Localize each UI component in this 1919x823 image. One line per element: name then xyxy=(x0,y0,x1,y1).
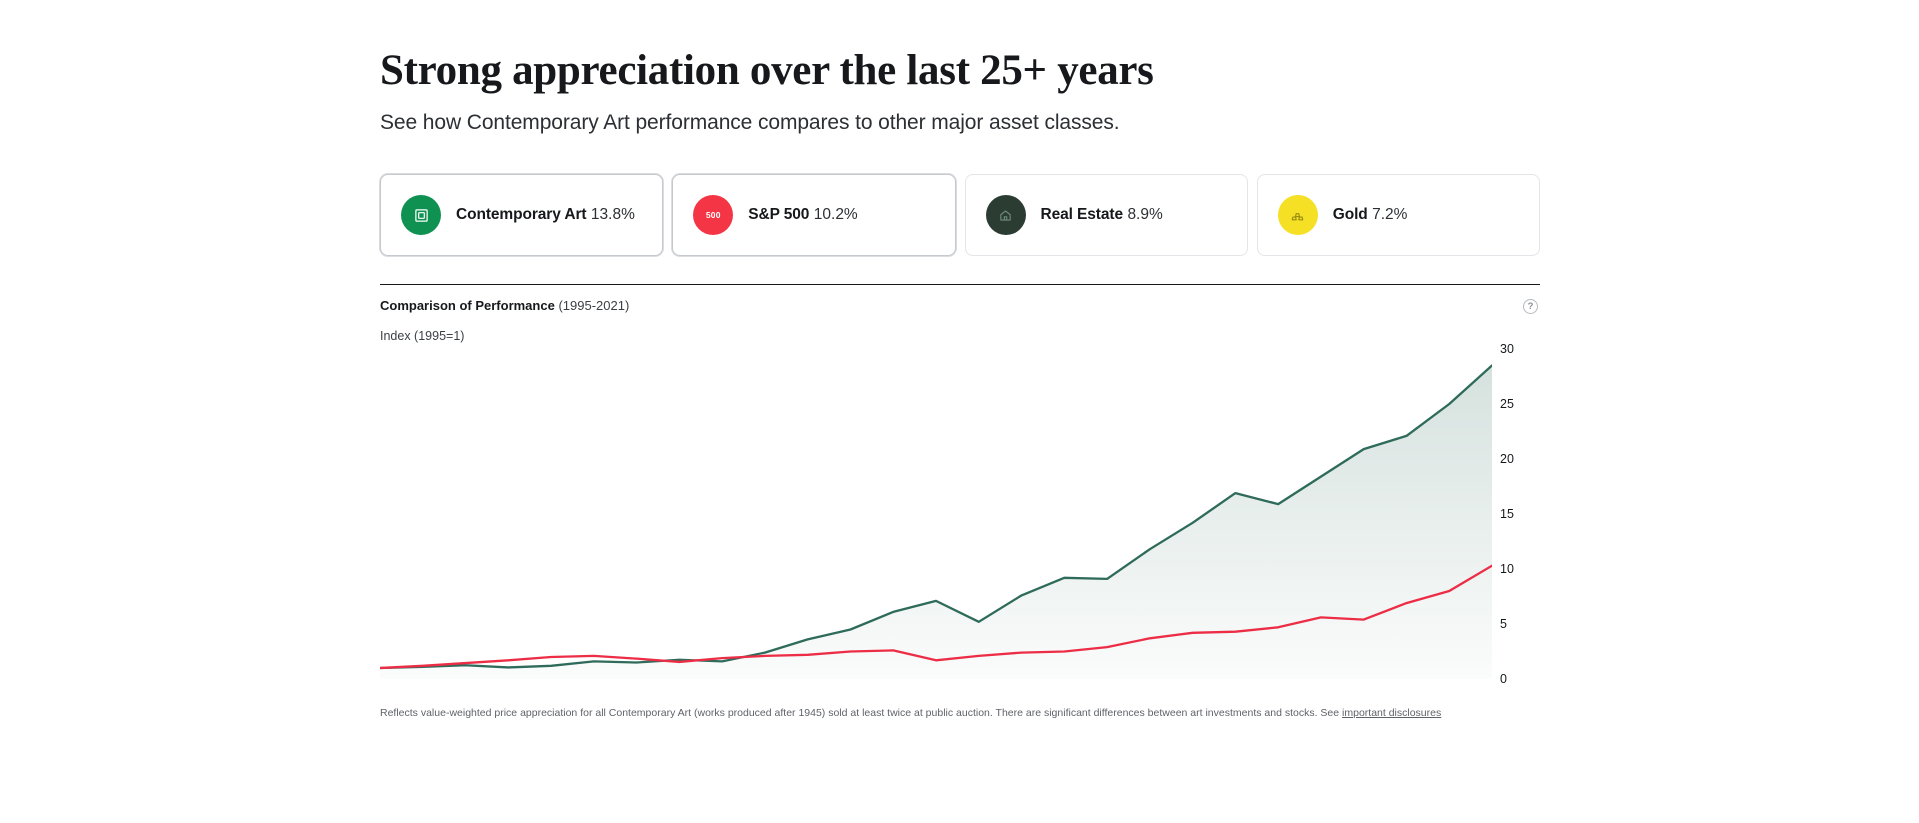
asset-card-name: S&P 500 xyxy=(748,206,809,223)
asset-card-value: 7.2% xyxy=(1372,206,1407,223)
chart-title: Comparison of Performance (1995-2021) xyxy=(380,298,629,315)
important-disclosures-link[interactable]: important disclosures xyxy=(1342,707,1441,719)
chart-title-range: (1995-2021) xyxy=(558,298,629,313)
y-axis-tick: 30 xyxy=(1500,343,1514,356)
gold-bars-icon xyxy=(1278,195,1318,235)
asset-card-gold[interactable]: Gold 7.2% xyxy=(1257,174,1540,256)
asset-card-name: Contemporary Art xyxy=(456,206,586,223)
content-column: Strong appreciation over the last 25+ ye… xyxy=(380,0,1540,722)
y-axis-tick: 15 xyxy=(1500,508,1514,521)
page-subtitle: See how Contemporary Art performance com… xyxy=(380,109,1540,137)
chart-plot: 051015202530 xyxy=(380,349,1540,679)
chart-svg xyxy=(380,349,1492,679)
plot-area xyxy=(380,349,1492,679)
chart-panel: Comparison of Performance (1995-2021) ? … xyxy=(380,284,1540,721)
asset-card-text: Real Estate 8.9% xyxy=(1041,205,1163,225)
area-contemporary-art xyxy=(380,366,1492,680)
y-axis-tick: 0 xyxy=(1500,673,1507,686)
asset-card-text: Contemporary Art 13.8% xyxy=(456,205,635,225)
asset-card-real-estate[interactable]: Real Estate 8.9% xyxy=(965,174,1248,256)
y-axis: 051015202530 xyxy=(1496,349,1540,679)
y-axis-tick: 5 xyxy=(1500,618,1507,631)
page-root: Strong appreciation over the last 25+ ye… xyxy=(0,0,1919,823)
asset-card-text: S&P 500 10.2% xyxy=(748,205,857,225)
help-circle-icon[interactable]: ? xyxy=(1523,299,1538,314)
chart-footnote: Reflects value-weighted price appreciati… xyxy=(380,705,1515,721)
asset-card-value: 10.2% xyxy=(814,206,858,223)
y-axis-caption: Index (1995=1) xyxy=(380,329,1540,343)
chart-header: Comparison of Performance (1995-2021) ? xyxy=(380,298,1540,315)
y-axis-tick: 20 xyxy=(1500,453,1514,466)
page-title: Strong appreciation over the last 25+ ye… xyxy=(380,0,1540,95)
framed-artwork-icon xyxy=(401,195,441,235)
y-axis-tick: 25 xyxy=(1500,398,1514,411)
y-axis-tick: 10 xyxy=(1500,563,1514,576)
asset-card-name: Gold xyxy=(1333,206,1368,223)
asset-card-value: 8.9% xyxy=(1127,206,1162,223)
sp500-badge-label: 500 xyxy=(706,211,721,220)
chart-title-main: Comparison of Performance xyxy=(380,298,555,313)
asset-card-contemporary-art[interactable]: Contemporary Art 13.8% xyxy=(380,174,663,256)
asset-card-value: 13.8% xyxy=(591,206,635,223)
footnote-text: Reflects value-weighted price appreciati… xyxy=(380,707,1342,719)
house-icon xyxy=(986,195,1026,235)
asset-card-sp500[interactable]: 500 S&P 500 10.2% xyxy=(672,174,955,256)
asset-card-name: Real Estate xyxy=(1041,206,1123,223)
asset-card-text: Gold 7.2% xyxy=(1333,205,1408,225)
sp500-badge-icon: 500 xyxy=(693,195,733,235)
asset-class-cards: Contemporary Art 13.8% 500 S&P 500 10.2% xyxy=(380,174,1540,256)
